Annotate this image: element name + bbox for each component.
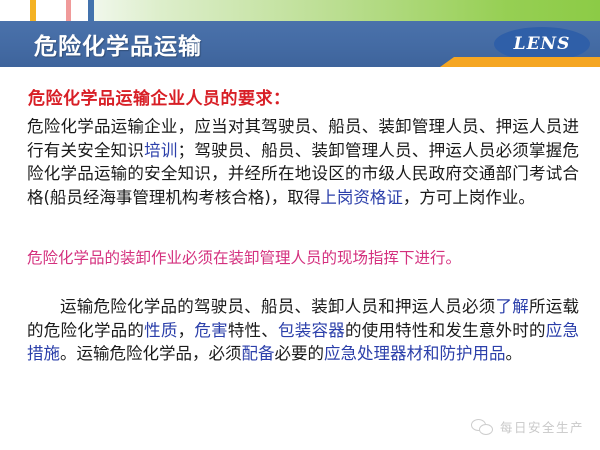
- highlight-liaojie: 了解: [496, 297, 530, 316]
- highlight-xingzhi: 性质: [144, 321, 177, 340]
- highlight-baozhuang-rongqi: 包装容器: [278, 321, 345, 340]
- slide-root: 危险化学品运输 LENS 危险化学品运输企业人员的要求： 危险化学品运输企业，应…: [0, 0, 600, 450]
- wechat-icon: [471, 418, 493, 436]
- highlight-peibei: 配备: [242, 344, 275, 363]
- paragraph-1-text-c: ，方可上岗作业。: [403, 188, 535, 207]
- highlight-peixun: 培训: [144, 141, 177, 160]
- paragraph-requirements: 危险化学品运输企业，应当对其驾驶员、船员、装卸管理人员、押运人员进行有关安全知识…: [27, 115, 579, 209]
- paragraph-2-text-c: ，: [178, 321, 195, 340]
- blue-tick-mark: [88, 0, 94, 21]
- highlight-yingji-qicai: 应急处理器材和防护用品: [324, 344, 506, 363]
- page-title: 危险化学品运输: [34, 27, 202, 61]
- top-decorative-strip: [0, 0, 600, 21]
- lens-logo: LENS: [494, 27, 590, 61]
- orange-tick-mark: [30, 0, 36, 21]
- red-tick-mark: [66, 0, 71, 21]
- lens-logo-text: LENS: [514, 34, 571, 54]
- orange-accent-wedge: [440, 57, 600, 67]
- paragraph-2-text-f: 。运输危险化学品，必须: [60, 344, 242, 363]
- paragraph-knowledge: 运输危险化学品的驾驶员、船员、装卸人员和押运人员必须了解所运载的危险化学品的性质…: [27, 295, 579, 366]
- green-gradient-bar: [88, 0, 600, 21]
- footer-watermark: 每日安全生产: [471, 417, 584, 436]
- paragraph-2-text-e: 的使用特性和发生意外时的: [345, 321, 546, 340]
- watermark-text: 每日安全生产: [500, 417, 584, 436]
- slide-header-band: 危险化学品运输 LENS: [0, 21, 600, 67]
- paragraph-2-text-a: 运输危险化学品的驾驶员、船员、装卸人员和押运人员必须: [60, 297, 496, 316]
- section-heading: 危险化学品运输企业人员的要求：: [28, 84, 291, 109]
- slide-content: 危险化学品运输企业人员的要求： 危险化学品运输企业，应当对其驾驶员、船员、装卸管…: [0, 67, 600, 450]
- paragraph-2-text-d: 特性、: [228, 321, 278, 340]
- emphasis-line-loading: 危险化学品的装卸作业必须在装卸管理人员的现场指挥下进行。: [27, 247, 583, 269]
- paragraph-2-text-h: 。: [506, 344, 523, 363]
- highlight-shanggang-zigezheng: 上岗资格证: [320, 188, 403, 207]
- paragraph-2-text-g: 必要的: [275, 344, 325, 363]
- wechat-bubble-small: [479, 424, 493, 435]
- highlight-weihai: 危害: [194, 321, 227, 340]
